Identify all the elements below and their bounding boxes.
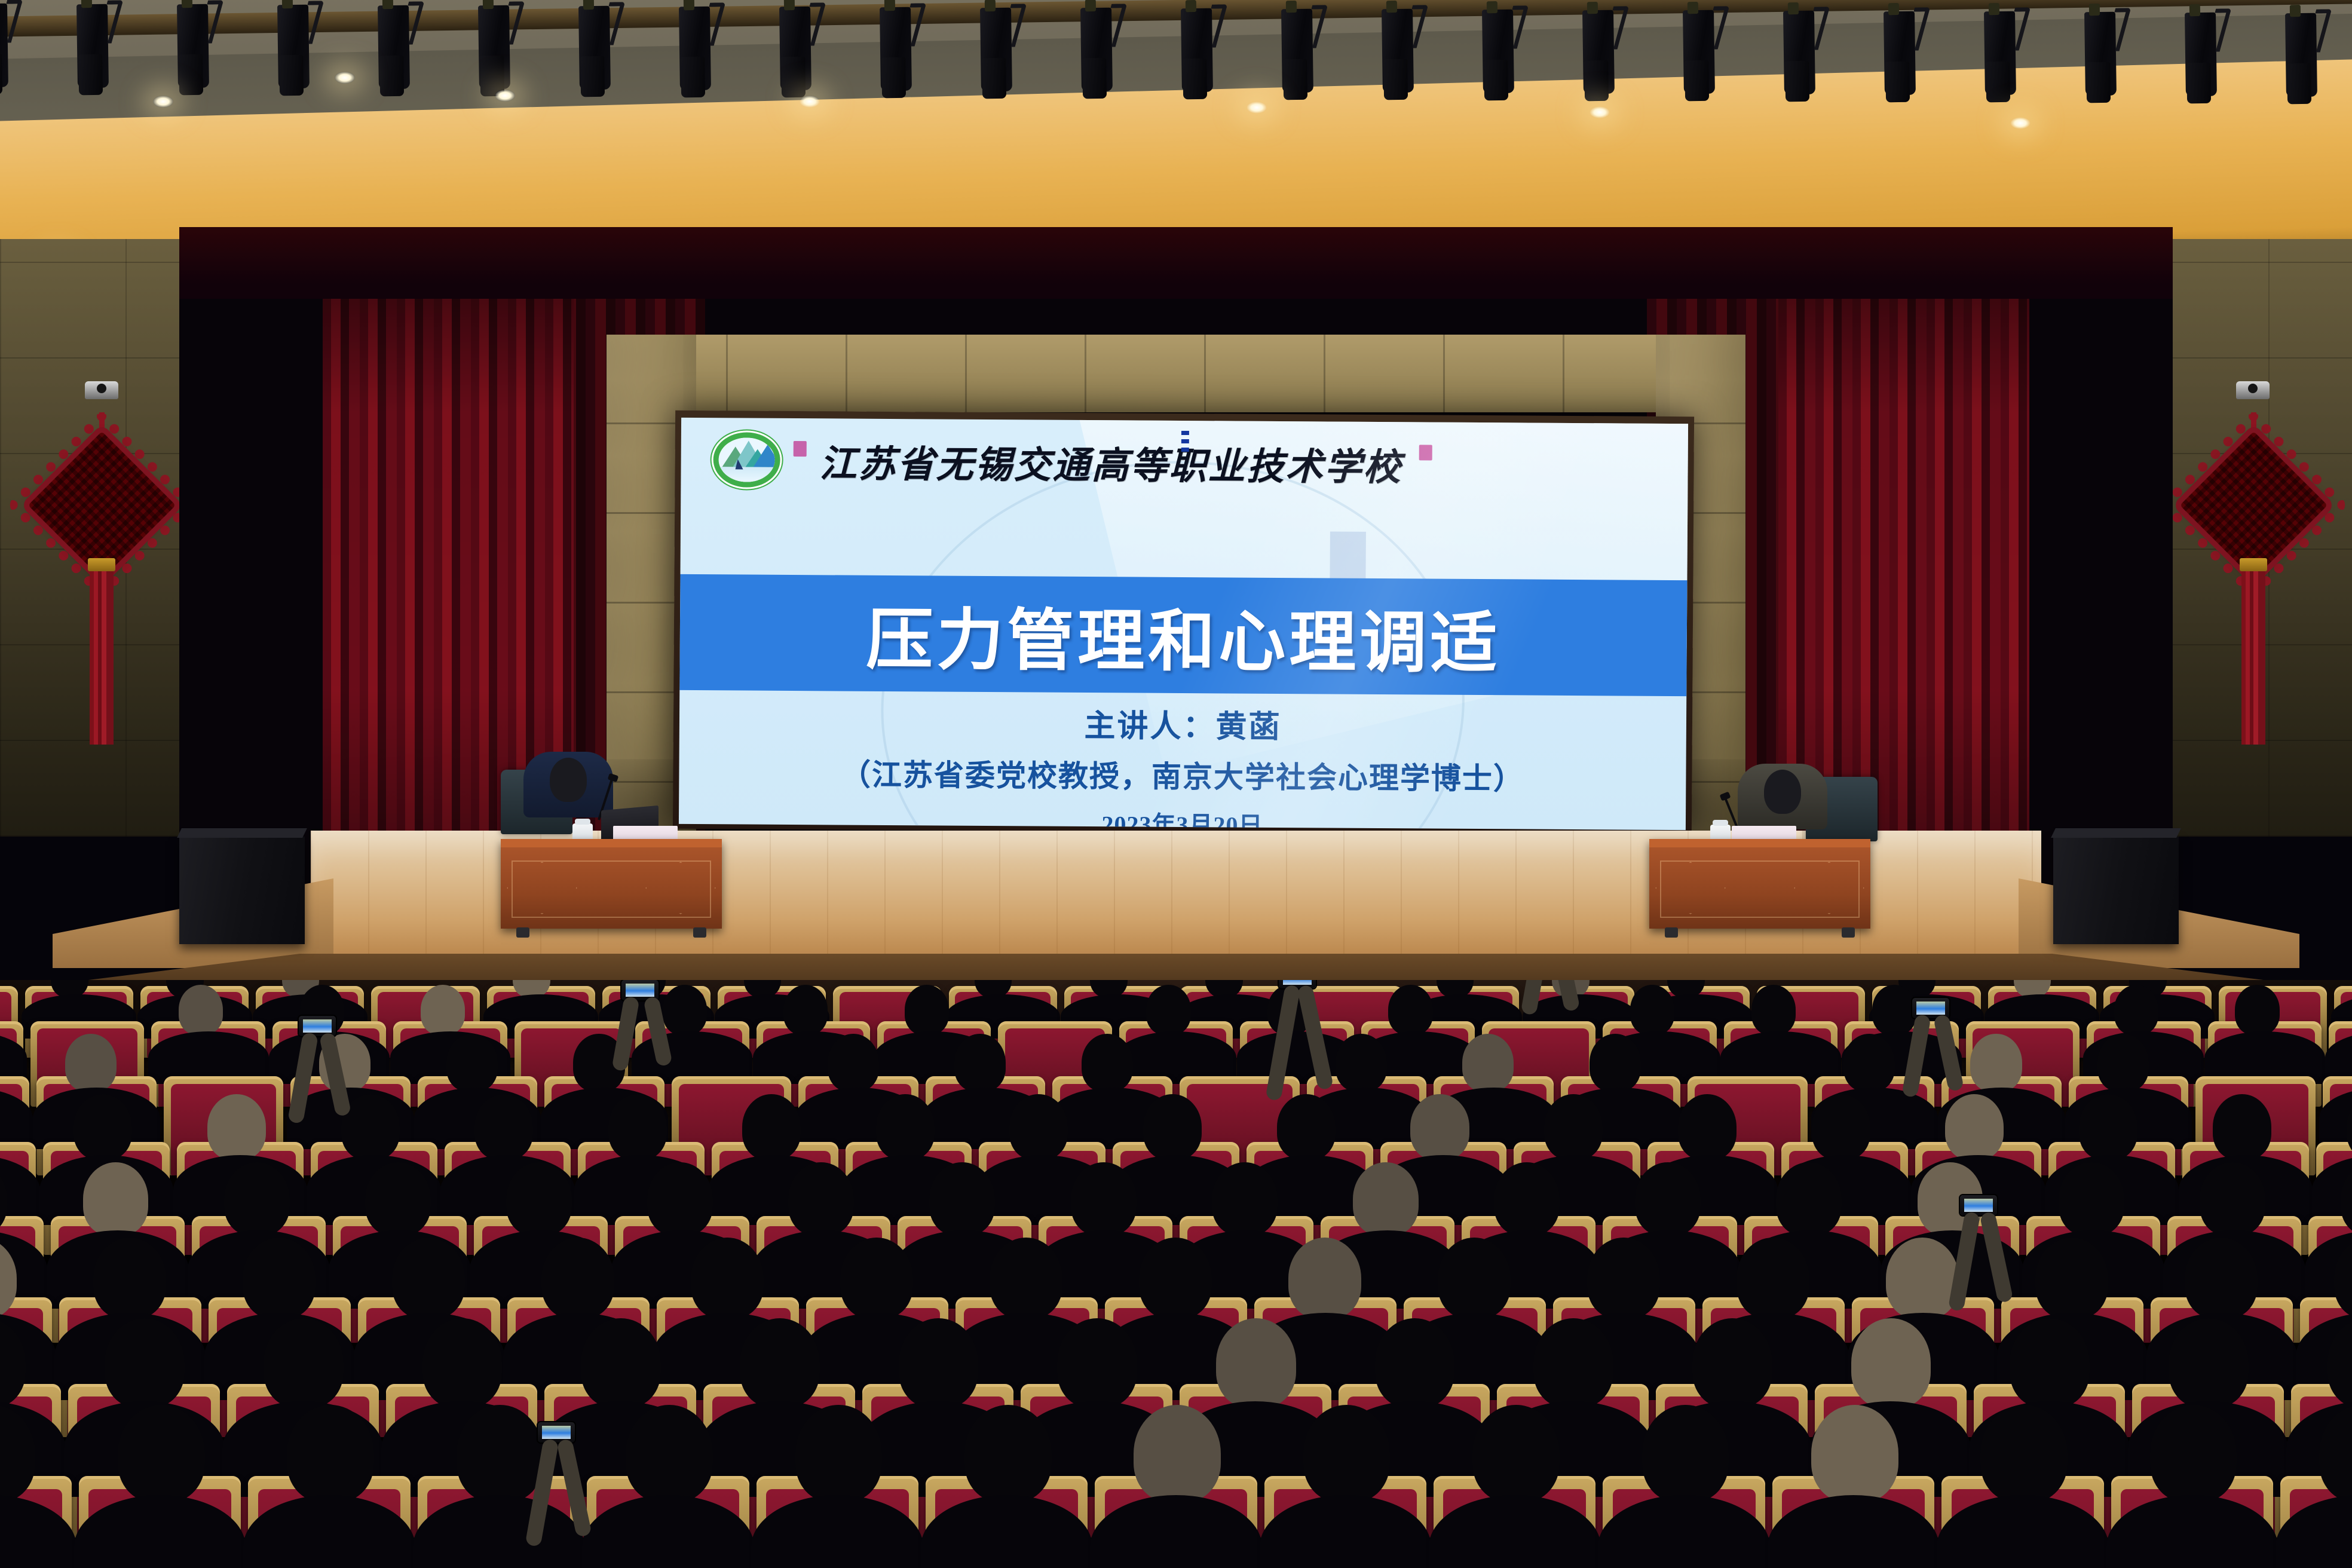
audience-person-head: [1970, 1034, 2022, 1092]
audience-person-head: [207, 1094, 266, 1160]
audience-seat[interactable]: [0, 1476, 72, 1568]
audience-person-head: [2169, 1318, 2249, 1408]
audience-person-shoulders: [2276, 1495, 2352, 1568]
seat-row: [0, 1476, 2352, 1568]
audience-person-head: [365, 1162, 431, 1236]
audience-person-head: [691, 1238, 764, 1319]
right-desk-person: [1764, 770, 1827, 829]
slide-credentials-line: （江苏省委党校教授，南京大学社会心理学博士）: [679, 750, 1686, 799]
audience-person-head: [840, 1238, 913, 1319]
audience-person-head: [783, 985, 828, 1034]
stage-valance: [179, 227, 2173, 299]
slide-date-line: 2023年3月20日: [679, 803, 1686, 830]
audience-seat[interactable]: [1603, 1476, 1765, 1568]
stage-lamp: [1582, 10, 1615, 94]
phone-screen: [1960, 1195, 1997, 1215]
chinese-knot-right: [2185, 436, 2322, 574]
recessed-downlight: [153, 96, 173, 108]
audience-person-head: [742, 1094, 801, 1160]
stage-lamp: [277, 5, 310, 89]
audience-person-head: [1082, 1034, 1133, 1092]
audience-person-head: [1303, 1405, 1391, 1502]
audience-person-head: [1811, 1405, 1898, 1502]
audience-person-head: [1587, 1238, 1660, 1319]
audience-person-head: [1353, 1162, 1419, 1236]
recessed-downlight: [800, 96, 820, 108]
screen-surround-header: [607, 335, 1745, 412]
audience-person-shoulders: [1090, 1495, 1262, 1568]
audience-person-head: [1375, 1318, 1455, 1408]
audience-seat[interactable]: [587, 1476, 749, 1568]
audience-person-head: [1533, 1318, 1613, 1408]
stage-lamp: [1382, 9, 1414, 93]
stage-lamp: [1683, 10, 1715, 94]
recessed-downlight: [1590, 106, 1610, 118]
audience-person-head: [65, 1034, 117, 1092]
audience-person-head: [1143, 1094, 1202, 1160]
audience-person-head: [608, 1094, 667, 1160]
audience-person-head: [2150, 1405, 2237, 1502]
audience-person-head: [287, 1405, 374, 1502]
audience-person-head: [1776, 1162, 1842, 1236]
audience-person-head: [626, 1405, 713, 1502]
audience-person-head: [1692, 1318, 1772, 1408]
audience-person-head: [341, 1094, 400, 1160]
audience-person-head: [1886, 1238, 1959, 1319]
slide-footer: 主讲人：黄菡 （江苏省委党校教授，南京大学社会心理学博士） 2023年3月20日: [679, 698, 1686, 830]
audience-seat[interactable]: [1434, 1476, 1595, 1568]
stage-lamp: [378, 5, 410, 89]
audience-seat[interactable]: [79, 1476, 241, 1568]
audience-person-head: [93, 1238, 166, 1319]
audience-person-head: [2035, 1238, 2108, 1319]
audience-person-head: [795, 1405, 883, 1502]
audience-person-head: [1071, 1162, 1137, 1236]
audience-person-head: [1494, 1162, 1560, 1236]
stage-lamp: [1783, 11, 1815, 95]
audience-person-head: [1336, 1034, 1387, 1092]
audience-person-head: [1212, 1162, 1278, 1236]
audience-person-head: [1462, 1034, 1514, 1092]
left-pa-speaker: [179, 837, 305, 944]
audience-person-head: [929, 1162, 995, 1236]
audience-person-head: [541, 1238, 614, 1319]
audience-person-head: [1843, 1034, 1895, 1092]
audience-person-head: [506, 1162, 572, 1236]
stage-lamp: [478, 5, 510, 90]
audience-person-head: [1544, 1094, 1603, 1160]
audience-person-shoulders: [582, 1495, 754, 1568]
audience-person-head: [422, 1318, 503, 1408]
audience-person-head: [740, 1318, 820, 1408]
stage-lamp: [1181, 8, 1213, 93]
audience-person-head: [83, 1162, 149, 1236]
audience-person-head: [964, 1405, 1052, 1502]
recessed-downlight: [335, 72, 355, 84]
stage-lamp: [1482, 10, 1514, 94]
audience-person-head: [179, 985, 223, 1034]
audience-person-head: [2213, 1094, 2271, 1160]
audience-person-shoulders: [2106, 1495, 2278, 1568]
audience-person-shoulders: [1260, 1495, 1432, 1568]
audience-person-head: [2010, 1318, 2090, 1408]
audience-person-shoulders: [1429, 1495, 1601, 1568]
audience-person-head: [905, 985, 949, 1034]
audience-person-head: [1635, 1162, 1701, 1236]
stage-lamp: [578, 6, 611, 90]
audience-person-head: [2097, 1034, 2149, 1092]
audience-person-shoulders: [1598, 1495, 1770, 1568]
slide-title-text: 压力管理和心理调适: [679, 584, 1687, 687]
audience-person-head: [446, 1034, 498, 1092]
audience-seat[interactable]: [1095, 1476, 1257, 1568]
audience-person-head: [1590, 1034, 1641, 1092]
audience-person-head: [1216, 1318, 1296, 1408]
audience-seat[interactable]: [418, 1476, 580, 1568]
audience-person-head: [1146, 985, 1190, 1034]
stage-lamp: [679, 6, 711, 90]
audience-person-head: [1872, 985, 1916, 1034]
audience-person-head: [828, 1034, 879, 1092]
audience-person-head: [1630, 985, 1674, 1034]
seal-stamp-right: [1419, 445, 1432, 460]
person-head: [550, 758, 587, 802]
audience-person-head: [2200, 1162, 2265, 1236]
stage-lamp: [1984, 11, 2016, 96]
audience-person-head: [457, 1405, 544, 1502]
seal-stamp-left: [794, 441, 807, 457]
audience-seat[interactable]: [2111, 1476, 2273, 1568]
audience-seat[interactable]: [248, 1476, 410, 1568]
audience-person-shoulders: [751, 1495, 923, 1568]
audience-person-head: [876, 1094, 935, 1160]
audience-person-head: [243, 1238, 316, 1319]
school-crest-logo: [713, 432, 780, 488]
audience-person-head: [581, 1318, 661, 1408]
audience-seat[interactable]: [1264, 1476, 1426, 1568]
audience-person-head: [1410, 1094, 1469, 1160]
audience-person-shoulders: [0, 1495, 76, 1568]
audience-person-head: [2079, 1094, 2137, 1160]
audience-person-shoulders: [1937, 1495, 2109, 1568]
audience-person-head: [392, 1238, 465, 1319]
recessed-downlight: [2010, 117, 2031, 129]
audience-person-head: [1134, 1405, 1221, 1502]
presentation-slide: Wuxi Institute of Communications Technol…: [679, 418, 1688, 830]
stage-lamp: [2084, 12, 2117, 96]
audience-person-head: [1388, 985, 1432, 1034]
stage-lamp: [1080, 8, 1113, 92]
audience-person-head: [474, 1094, 533, 1160]
audience-person-shoulders: [74, 1495, 246, 1568]
audience-person-head: [1277, 1094, 1336, 1160]
stage-lamp: [0, 3, 8, 87]
recessed-downlight: [1247, 102, 1267, 114]
right-speaker-desk[interactable]: [1649, 839, 1870, 929]
audience-person-head: [647, 1162, 713, 1236]
audience-person-head: [1057, 1318, 1137, 1408]
stage-lamp: [1281, 8, 1313, 93]
slide-translucent-rect: [1330, 531, 1366, 581]
audience-person-head: [954, 1034, 1006, 1092]
recessed-downlight: [495, 90, 515, 102]
audience-person-head: [1812, 1094, 1870, 1160]
security-camera-right: [2236, 381, 2270, 399]
stage-lamp: [880, 7, 912, 91]
audience-person-shoulders: [243, 1495, 415, 1568]
stage-lamp: [779, 7, 811, 91]
stage-lamp: [2185, 12, 2217, 96]
audience-person-head: [1009, 1094, 1068, 1160]
stage-lamp: [1884, 11, 1916, 95]
audience-person-head: [105, 1318, 185, 1408]
stage-lamp: [177, 4, 209, 88]
audience-person-head: [1737, 1238, 1809, 1319]
audience-person-head: [1980, 1405, 2068, 1502]
audience-person-head: [118, 1405, 205, 1502]
projection-screen[interactable]: Wuxi Institute of Communications Technol…: [673, 411, 1694, 835]
audience-person-head: [1678, 1094, 1737, 1160]
audience-person-head: [1851, 1318, 1931, 1408]
audience-person-head: [224, 1162, 290, 1236]
audience-person-head: [1438, 1238, 1511, 1319]
stage-lamp: [76, 4, 109, 88]
audience-person-head: [1472, 1405, 1560, 1502]
audience-person-shoulders: [413, 1495, 585, 1568]
audience-person-head: [788, 1162, 854, 1236]
audience-person-head: [2114, 985, 2158, 1034]
phone-screen: [538, 1422, 575, 1443]
audience-seat[interactable]: [926, 1476, 1088, 1568]
audience-person-head: [990, 1238, 1062, 1319]
audience-person-head: [1642, 1405, 1729, 1502]
chinese-knot-left: [33, 436, 170, 574]
audience-person-head: [2185, 1238, 2258, 1319]
audience-seat[interactable]: [2280, 1476, 2352, 1568]
auditorium-scene: Wuxi Institute of Communications Technol…: [0, 0, 2352, 1568]
audience-person-head: [663, 985, 707, 1034]
audience-person-shoulders: [921, 1495, 1093, 1568]
slide-tick-marks: [1181, 431, 1189, 452]
slide-speaker-line: 主讲人：黄菡: [679, 698, 1686, 749]
audience-seat[interactable]: [1941, 1476, 2103, 1568]
audience-person-head: [2059, 1162, 2124, 1236]
audience-person-head: [1139, 1238, 1212, 1319]
audience-person-shoulders: [1768, 1495, 1940, 1568]
left-speaker-desk[interactable]: [501, 839, 722, 929]
audience-seating-area: [0, 980, 2352, 1568]
stage-lamp: [2285, 13, 2317, 97]
audience-person-head: [421, 985, 465, 1034]
audience-person-head: [264, 1318, 344, 1408]
audience-person-head: [899, 1318, 979, 1408]
person-head: [1764, 770, 1801, 814]
security-camera-left: [85, 381, 118, 399]
audience-person-head: [1945, 1094, 2004, 1160]
audience-seat[interactable]: [1772, 1476, 1934, 1568]
audience-person-head: [1751, 985, 1796, 1034]
audience-person-shoulders: [0, 1088, 33, 1149]
audience-seat[interactable]: [757, 1476, 918, 1568]
right-pa-speaker: [2053, 837, 2179, 944]
audience-person-head: [2235, 985, 2279, 1034]
stage-lamp: [980, 7, 1012, 91]
audience-person-head: [1288, 1238, 1361, 1319]
audience-person-head: [73, 1094, 132, 1160]
school-name-calligraphy: 江苏省无锡交通高等职业技术学校: [819, 433, 1402, 491]
